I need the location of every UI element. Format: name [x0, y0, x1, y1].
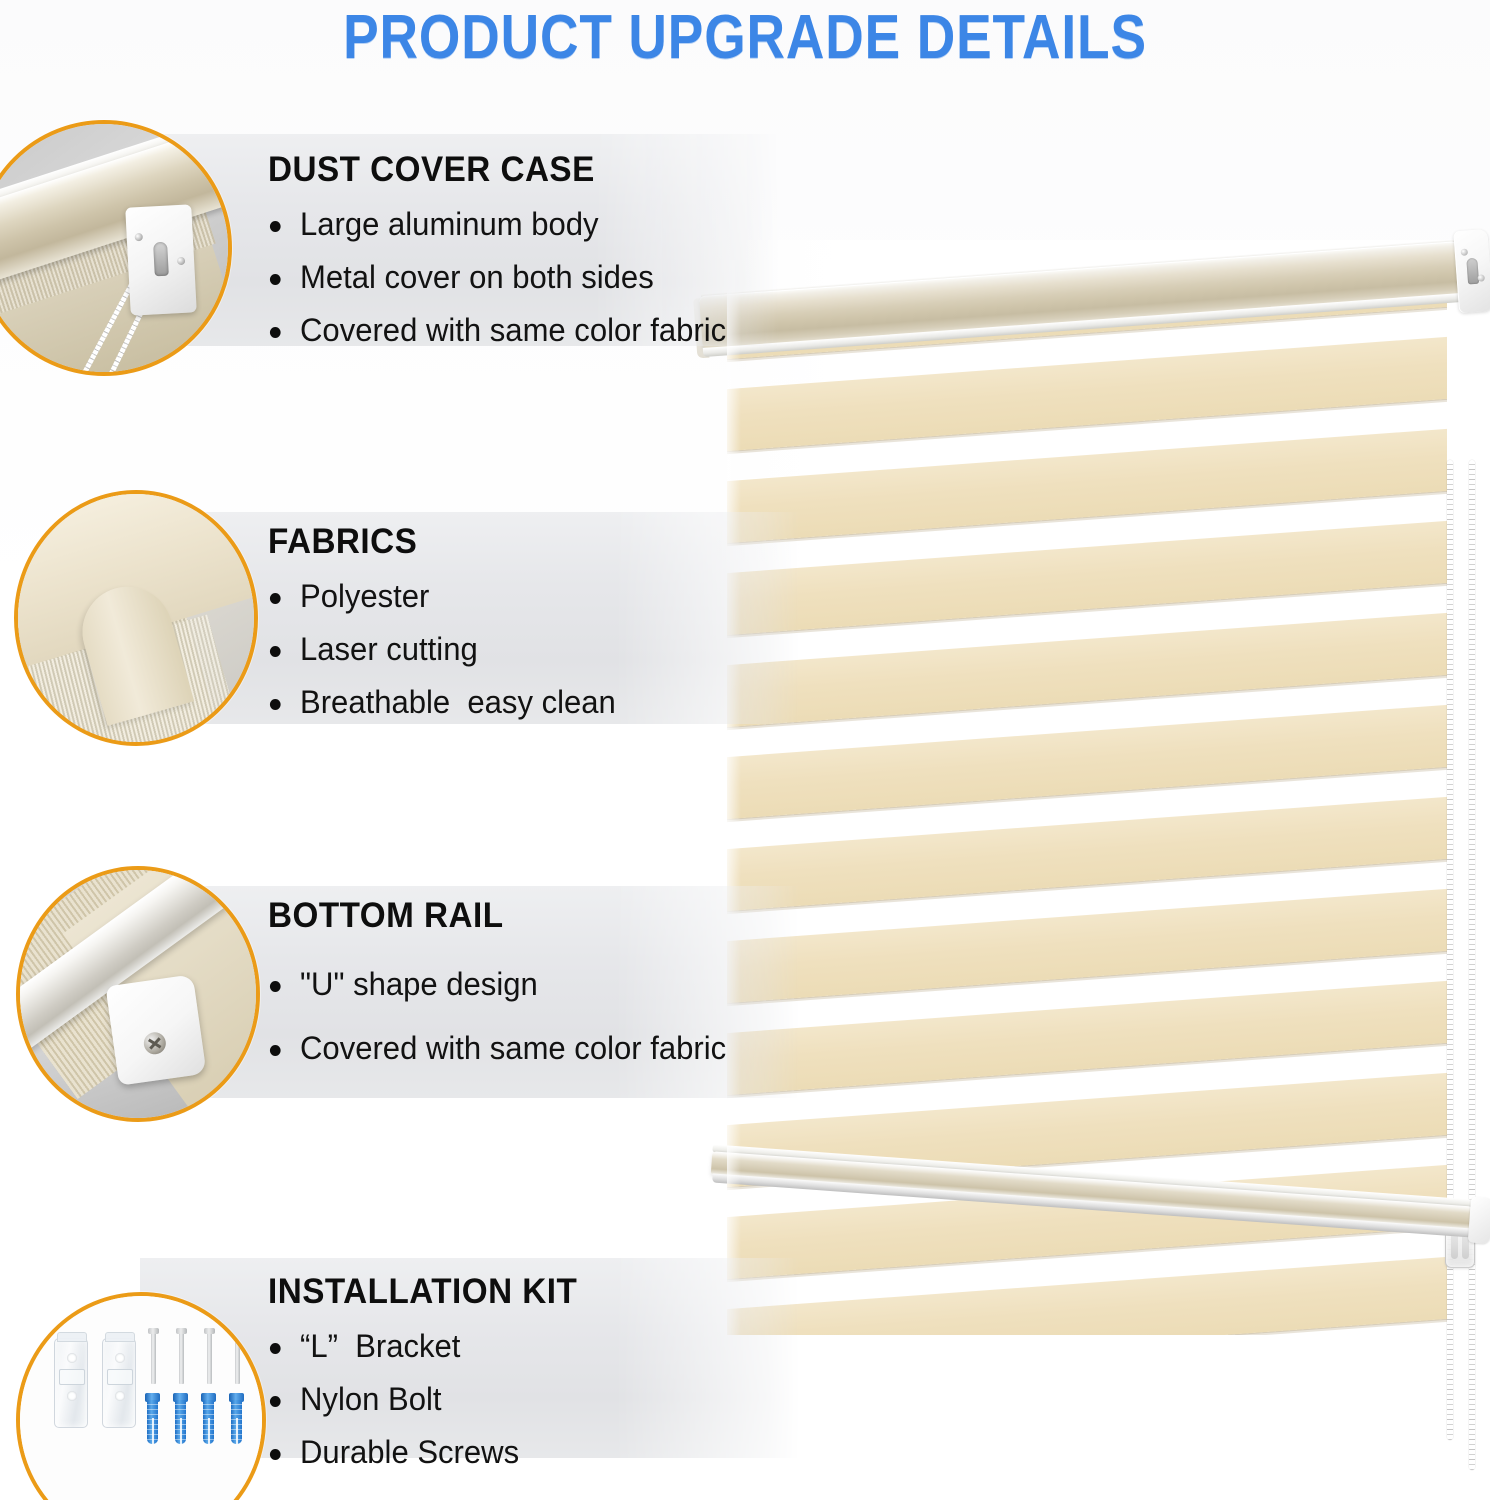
feature-textblock: DUST COVER CASE Large aluminum body Meta… [268, 150, 740, 365]
dust-cover-headrail [698, 222, 1480, 398]
screw-icon [207, 1332, 212, 1384]
headrail-lip [703, 293, 1464, 357]
bead-chain [1447, 460, 1453, 1440]
screw-icon [179, 1332, 184, 1384]
bullet-text: Covered with same color fabric [300, 312, 726, 348]
feature-bullet-list: "U" shape design Covered with same color… [268, 966, 740, 1067]
list-item: “L” Bracket [268, 1328, 584, 1365]
product-backdrop [725, 240, 1490, 1340]
bullet-dot-icon [270, 327, 281, 338]
feature-heading: BOTTOM RAIL [268, 896, 717, 936]
page-title: PRODUCT UPGRADE DETAILS [104, 2, 1385, 73]
fabric-band [727, 977, 1447, 1098]
fabric-swatch-photo [14, 490, 258, 746]
bullet-text: Breathable easy clean [300, 684, 616, 720]
fabric-left-edge [727, 260, 741, 1335]
list-item: Nylon Bolt [268, 1381, 584, 1418]
l-bracket-icon [54, 1338, 88, 1428]
feature-textblock: INSTALLATION KIT “L” Bracket Nylon Bolt … [268, 1272, 594, 1487]
feature-heading: DUST COVER CASE [268, 150, 717, 190]
fabric-band [727, 260, 1447, 362]
bullet-dot-icon [270, 221, 281, 232]
list-item: Large aluminum body [268, 206, 726, 243]
fabric-band [727, 333, 1447, 454]
screw-icon [151, 1332, 156, 1384]
infographic-page: PRODUCT UPGRADE DETAILS DUST COVER CASE … [0, 0, 1490, 1500]
bullet-text: Polyester [300, 578, 429, 614]
fabric-band [727, 885, 1447, 1006]
bullet-dot-icon [270, 1045, 281, 1056]
nylon-bolt-icon [146, 1392, 159, 1444]
bullet-text: Metal cover on both sides [300, 259, 654, 295]
fabric-band [727, 701, 1447, 822]
feature-heading: INSTALLATION KIT [268, 1272, 577, 1312]
installation-kit-photo [16, 1292, 266, 1500]
bullet-dot-icon [270, 274, 281, 285]
nylon-bolt-icon [174, 1392, 187, 1444]
feature-bullet-list: “L” Bracket Nylon Bolt Durable Screws [268, 1328, 594, 1471]
list-item: Covered with same color fabric [268, 1030, 726, 1067]
headrail-top-edge [701, 239, 1455, 298]
fabric-band [727, 1161, 1447, 1282]
fabric-band-stack [727, 260, 1447, 1335]
list-item: Breathable easy clean [268, 684, 616, 721]
dust-cover-case-photo [0, 120, 232, 376]
feature-bullet-list: Large aluminum body Metal cover on both … [268, 206, 740, 349]
screw-icon [1461, 248, 1468, 255]
bullet-dot-icon [270, 646, 281, 657]
headrail-end-cap [1453, 229, 1490, 313]
bead-chain [1469, 460, 1475, 1470]
bullet-text: Large aluminum body [300, 206, 599, 242]
feature-bullet-list: Polyester Laser cutting Breathable easy … [268, 578, 627, 721]
chain-connector [1445, 1210, 1475, 1268]
fabric-band [727, 1253, 1447, 1335]
bullet-dot-icon [270, 1343, 281, 1354]
screw-icon [1477, 274, 1484, 281]
fabric-band [727, 1069, 1447, 1190]
nylon-bolt-icon [202, 1392, 215, 1444]
nylon-bolt-icon [230, 1392, 243, 1444]
bullet-dot-icon [270, 981, 281, 992]
bullet-text: "U" shape design [300, 966, 538, 1002]
list-item: Covered with same color fabric [268, 312, 726, 349]
blind-fabric [727, 260, 1447, 1335]
fabric-band [727, 425, 1447, 546]
list-item: "U" shape design [268, 966, 726, 1003]
list-item: Durable Screws [268, 1434, 584, 1471]
screw-icon [235, 1332, 240, 1384]
bullet-dot-icon [270, 699, 281, 710]
headrail-tube [699, 241, 1461, 352]
zebra-roller-blind [690, 200, 1490, 1360]
l-bracket-icon [102, 1338, 136, 1428]
list-item: Metal cover on both sides [268, 259, 726, 296]
bracket-slot-icon [1466, 258, 1479, 285]
bullet-dot-icon [270, 1449, 281, 1460]
bullet-text: Durable Screws [300, 1434, 519, 1470]
bottom-rail-end-cap [1468, 1196, 1490, 1243]
bullet-dot-icon [270, 1396, 281, 1407]
fabric-band [727, 517, 1447, 638]
feature-textblock: FABRICS Polyester Laser cutting Breathab… [268, 522, 627, 737]
list-item: Laser cutting [268, 631, 616, 668]
bullet-dot-icon [270, 593, 281, 604]
fabric-band [727, 793, 1447, 914]
bottom-rail-lower-edge [712, 1173, 1473, 1237]
feature-textblock: BOTTOM RAIL "U" shape design Covered wit… [268, 896, 740, 1083]
bullet-text: Covered with same color fabric [300, 1030, 726, 1066]
bottom-rail-photo [16, 866, 260, 1122]
bottom-rail-bar [711, 1151, 1473, 1230]
bottom-rail [706, 1129, 1482, 1294]
bullet-text: Laser cutting [300, 631, 478, 667]
bullet-text: “L” Bracket [300, 1328, 460, 1364]
fabric-band [727, 609, 1447, 730]
feature-heading: FABRICS [268, 522, 609, 562]
bullet-text: Nylon Bolt [300, 1381, 441, 1417]
list-item: Polyester [268, 578, 616, 615]
bottom-rail-top-edge [712, 1144, 1475, 1207]
